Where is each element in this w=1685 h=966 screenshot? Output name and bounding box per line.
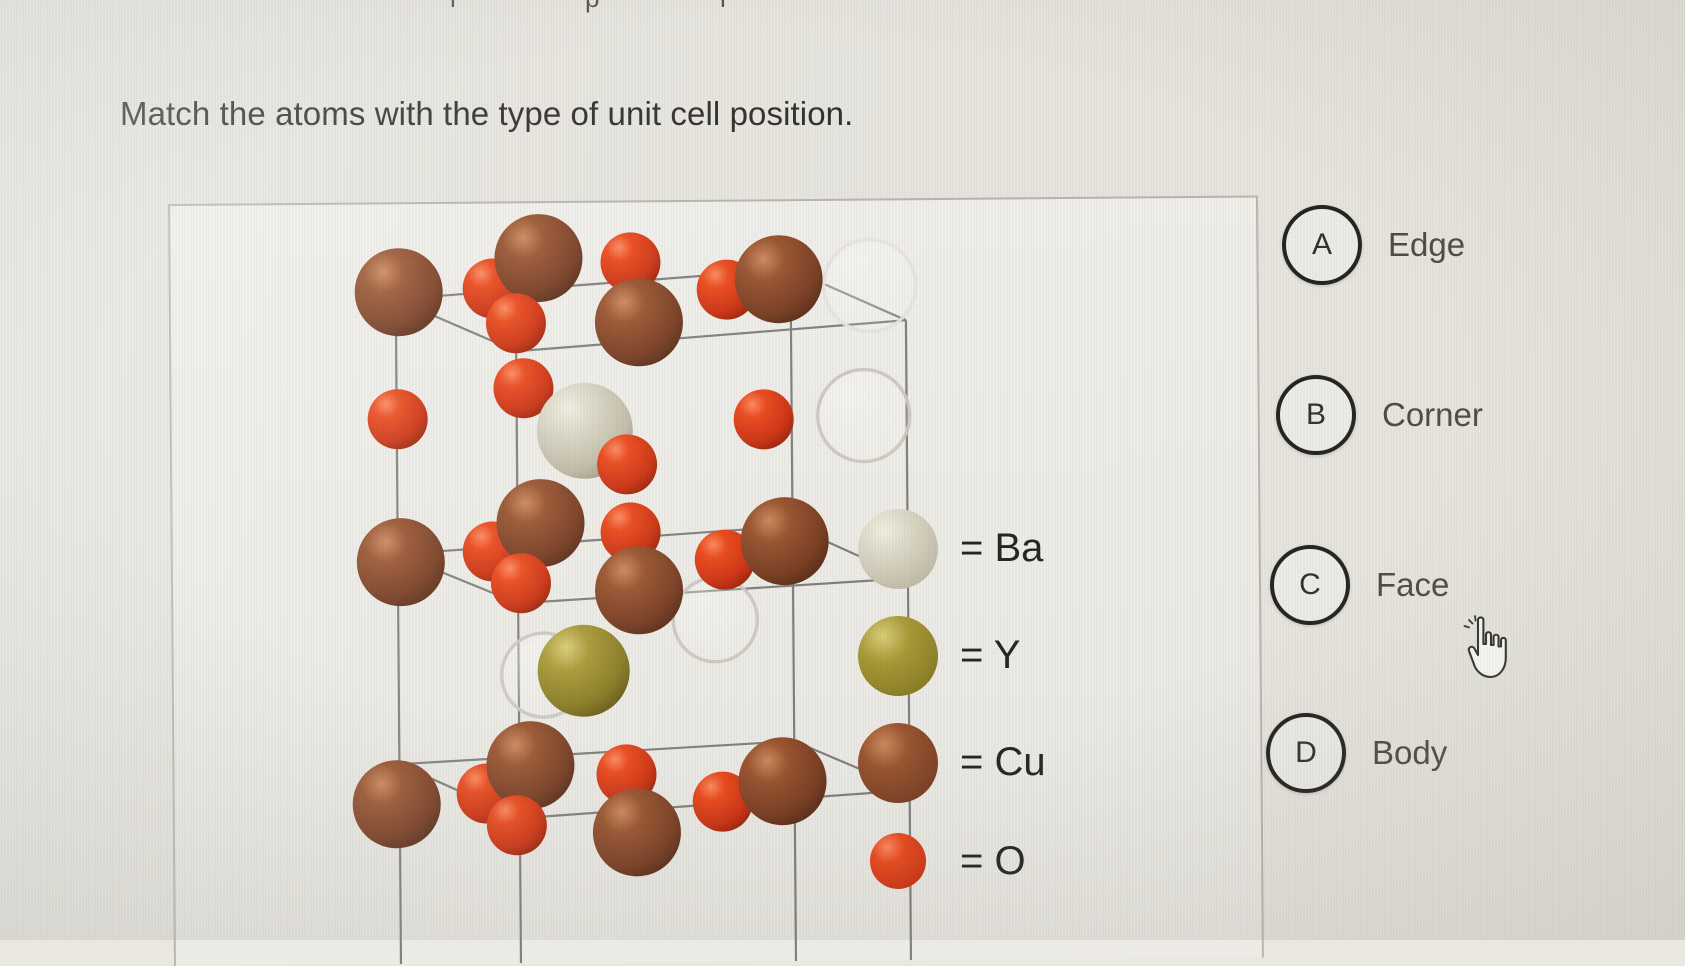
atom-color-legend: = Ba = Y = Cu = O xyxy=(858,495,1046,906)
pointing-hand-cursor xyxy=(1458,614,1520,682)
legend-label-cu: = Cu xyxy=(960,740,1046,785)
option-c[interactable]: C Face xyxy=(1270,545,1449,625)
legend-item-o: = O xyxy=(858,816,1046,906)
cutoff-text-row: i p i xyxy=(0,0,1685,16)
option-a[interactable]: A Edge xyxy=(1282,205,1465,285)
y-sphere-swatch xyxy=(858,616,938,696)
option-a-label[interactable]: Edge xyxy=(1388,226,1465,264)
option-b-label[interactable]: Corner xyxy=(1382,396,1483,434)
figure-panel xyxy=(168,195,1264,966)
legend-label-ba: = Ba xyxy=(960,526,1043,571)
option-a-letter[interactable]: A xyxy=(1282,205,1362,285)
option-d-letter[interactable]: D xyxy=(1266,713,1346,793)
legend-item-cu: = Cu xyxy=(858,709,1046,816)
cutoff-glyph-3: i xyxy=(720,0,726,14)
option-c-label[interactable]: Face xyxy=(1376,566,1449,604)
cutoff-glyph-2: p xyxy=(585,0,600,14)
option-d-label[interactable]: Body xyxy=(1372,734,1447,772)
legend-item-y: = Y xyxy=(858,602,1046,709)
atom-group-second xyxy=(367,356,794,496)
atom-group-middle xyxy=(356,477,829,637)
option-b[interactable]: B Corner xyxy=(1276,375,1483,455)
legend-label-y: = Y xyxy=(960,633,1020,678)
option-d[interactable]: D Body xyxy=(1266,713,1447,793)
option-c-letter[interactable]: C xyxy=(1270,545,1350,625)
cutoff-glyph-1: i xyxy=(450,0,456,14)
page-title: Match the atoms with the type of unit ce… xyxy=(120,95,853,133)
o-sphere-swatch xyxy=(870,833,926,889)
atom-group-y-layer xyxy=(537,624,630,717)
legend-item-ba: = Ba xyxy=(858,495,1046,602)
legend-label-o: = O xyxy=(960,839,1026,884)
ba-sphere-swatch xyxy=(858,509,938,589)
option-b-letter[interactable]: B xyxy=(1276,375,1356,455)
cu-sphere-swatch xyxy=(858,723,938,803)
crystal-unit-cell-diagram xyxy=(170,197,1262,966)
